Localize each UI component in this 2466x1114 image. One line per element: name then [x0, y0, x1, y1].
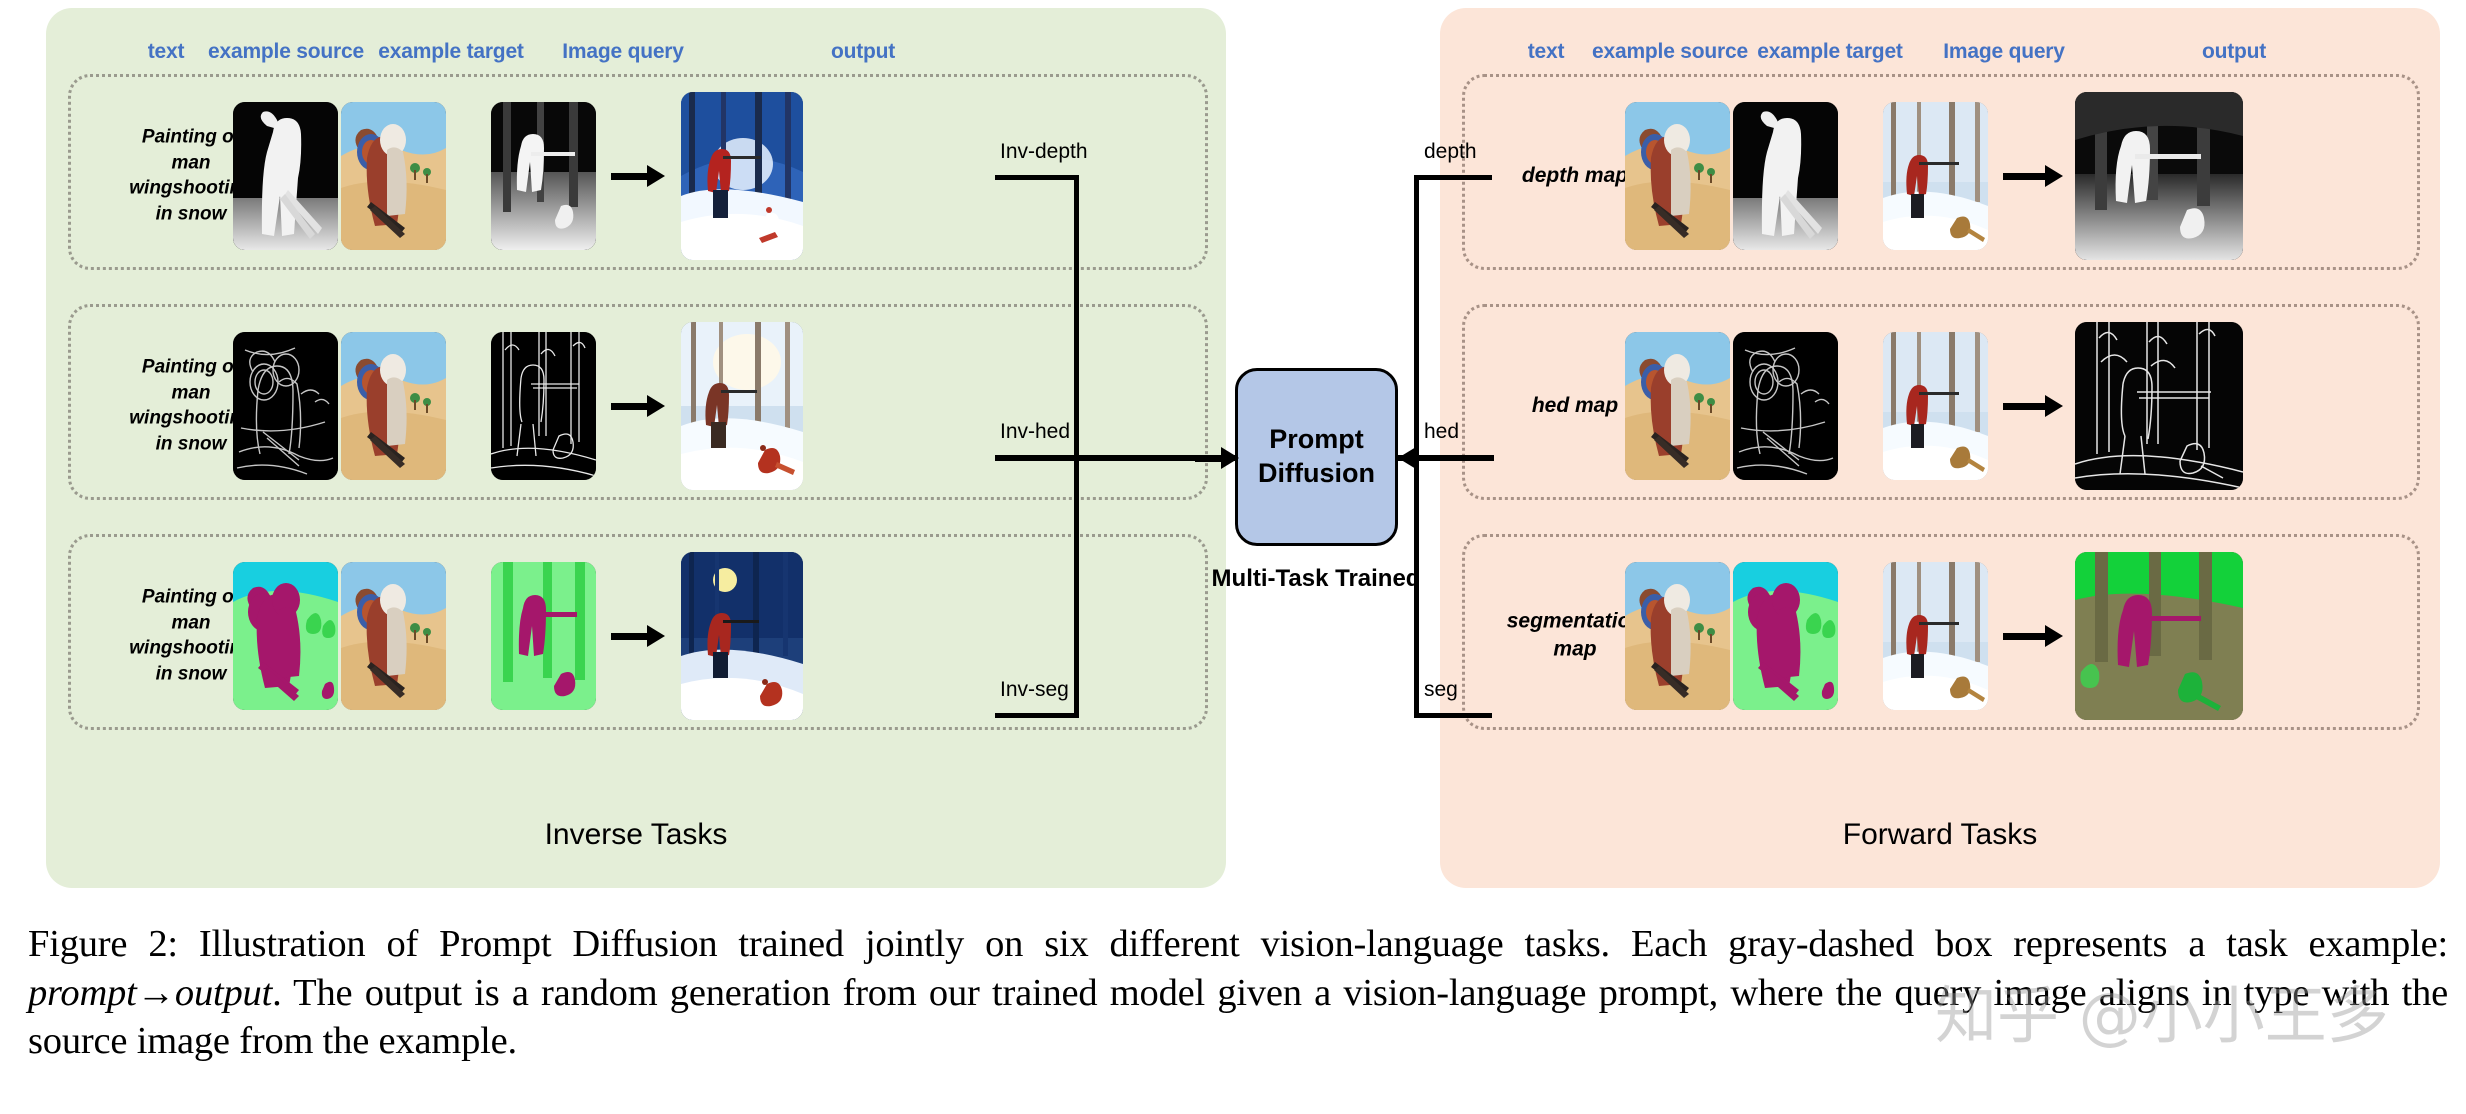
- output-thumb: [681, 322, 803, 490]
- model-name: Prompt Diffusion: [1258, 423, 1375, 491]
- output-thumb: [681, 552, 803, 720]
- column-header-example-source: example source: [208, 40, 364, 64]
- example-target-thumb: [341, 562, 446, 710]
- task-row: hed map: [1462, 304, 2420, 500]
- map-label: hed map: [1532, 392, 1618, 420]
- forward-tasks-panel: text example source example target Image…: [1440, 8, 2440, 888]
- task-row: Painting of man wingshooting in snow: [68, 304, 1208, 500]
- figure-diagram: text example source example target Image…: [0, 0, 2466, 900]
- task-row: depth map: [1462, 74, 2420, 270]
- output-thumb: [2075, 92, 2243, 260]
- connector-spine: [1074, 175, 1079, 718]
- panel-caption-forward: Forward Tasks: [1843, 818, 2038, 852]
- example-target-thumb: [1733, 102, 1838, 250]
- example-target-thumb: [1733, 562, 1838, 710]
- connector-label-hed: hed: [1424, 420, 1459, 444]
- image-query-thumb: [1883, 102, 1988, 250]
- connector-line: [1414, 175, 1492, 180]
- caption-lead: Figure 2: Illustration of Prompt Diffusi…: [28, 923, 2448, 965]
- column-header-image-query: Image query: [562, 40, 684, 64]
- figure-caption: Figure 2: Illustration of Prompt Diffusi…: [28, 920, 2448, 1066]
- column-header-image-query: Image query: [1943, 40, 2065, 64]
- example-target-thumb: [341, 332, 446, 480]
- model-subtitle: Multi-Task Trained: [1212, 565, 1421, 593]
- column-header-output: output: [831, 40, 895, 64]
- example-source-thumb: [1625, 332, 1730, 480]
- image-query-thumb: [491, 102, 596, 250]
- connector-label-inv-depth: Inv-depth: [1000, 140, 1088, 164]
- image-query-thumb: [1883, 332, 1988, 480]
- column-header-output: output: [2202, 40, 2266, 64]
- example-source-thumb: [1625, 102, 1730, 250]
- image-query-thumb: [491, 332, 596, 480]
- example-source-thumb: [233, 562, 338, 710]
- image-query-thumb: [1883, 562, 1988, 710]
- connector-label-inv-seg: Inv-seg: [1000, 678, 1069, 702]
- column-header-example-target: example target: [378, 40, 523, 64]
- column-header-text: text: [1528, 40, 1565, 64]
- connector-label-inv-hed: Inv-hed: [1000, 420, 1070, 444]
- image-query-thumb: [491, 562, 596, 710]
- map-label: segmentation map: [1507, 608, 1644, 665]
- prompt-diffusion-model-box[interactable]: Prompt Diffusion: [1235, 368, 1398, 546]
- example-source-thumb: [233, 332, 338, 480]
- connector-label-depth: depth: [1424, 140, 1477, 164]
- map-label: depth map: [1522, 162, 1628, 190]
- column-header-text: text: [148, 40, 185, 64]
- output-thumb: [2075, 322, 2243, 490]
- task-row: Painting of man wingshooting in snow: [68, 74, 1208, 270]
- connector-line: [995, 175, 1079, 180]
- column-header-example-target: example target: [1757, 40, 1902, 64]
- caption-mid: . The output is a random generation from…: [28, 972, 2448, 1063]
- task-row: segmentation map: [1462, 534, 2420, 730]
- caption-italic-prompt-output: prompt→output: [28, 972, 272, 1014]
- panel-caption-inverse: Inverse Tasks: [545, 818, 728, 852]
- connector-label-seg: seg: [1424, 678, 1458, 702]
- output-thumb: [681, 92, 803, 260]
- connector-line: [1414, 713, 1492, 718]
- example-target-thumb: [1733, 332, 1838, 480]
- example-source-thumb: [1625, 562, 1730, 710]
- connector-line: [995, 713, 1079, 718]
- column-header-example-source: example source: [1592, 40, 1748, 64]
- output-thumb: [2075, 552, 2243, 720]
- example-target-thumb: [341, 102, 446, 250]
- example-source-thumb: [233, 102, 338, 250]
